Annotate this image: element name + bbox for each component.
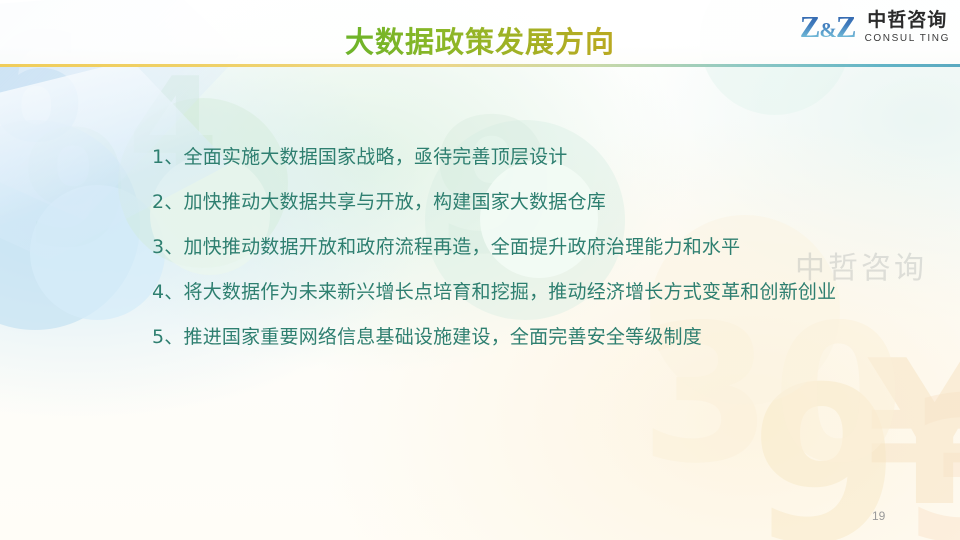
slide-header: 大数据政策发展方向 Z&Z 中哲咨询 CONSUL TING bbox=[0, 0, 960, 67]
logo-z-left: Z bbox=[800, 9, 820, 44]
logo-name-en: CONSUL TING bbox=[865, 34, 950, 44]
list-item: 1、全面实施大数据国家战略，亟待完善顶层设计 bbox=[152, 148, 922, 167]
list-item: 5、推进国家重要网络信息基础设施建设，全面完善安全等级制度 bbox=[152, 328, 922, 347]
logo-zz-mark: Z&Z bbox=[800, 11, 856, 44]
logo-name-cn: 中哲咨询 bbox=[867, 11, 947, 30]
watermark: 中哲咨询 bbox=[795, 243, 927, 287]
logo-z-right: Z bbox=[836, 9, 856, 44]
logo-wordmark: 中哲咨询 CONSUL TING bbox=[865, 11, 950, 44]
header-divider-rule bbox=[0, 64, 960, 67]
logo-ampersand-icon: & bbox=[819, 18, 836, 42]
list-item: 2、加快推动大数据共享与开放，构建国家大数据仓库 bbox=[152, 193, 922, 212]
page-number: 19 bbox=[872, 509, 885, 523]
company-logo: Z&Z 中哲咨询 CONSUL TING bbox=[800, 11, 950, 44]
slide-canvas: 6 9 4 9 9 3 0 ¥ 3 30 大数据政策发展方向 Z&Z 中哲咨询 … bbox=[0, 0, 960, 540]
